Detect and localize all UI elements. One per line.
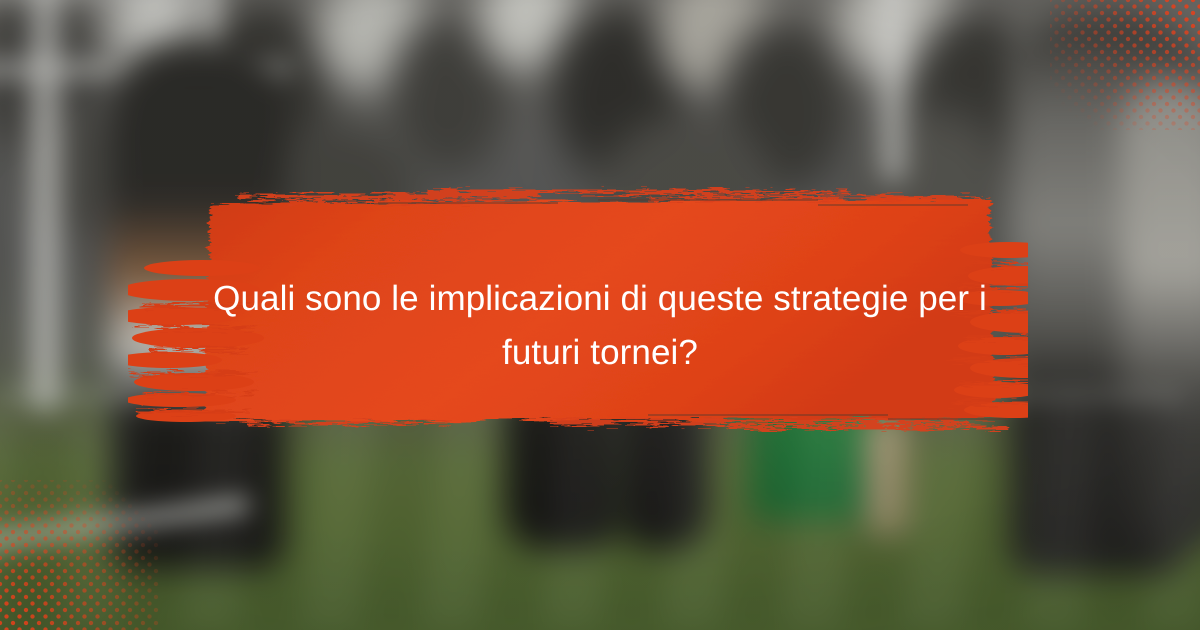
headline-text: Quali sono le implicazioni di queste str…	[180, 272, 1020, 380]
social-share-card: Quali sono le implicazioni di queste str…	[0, 0, 1200, 630]
